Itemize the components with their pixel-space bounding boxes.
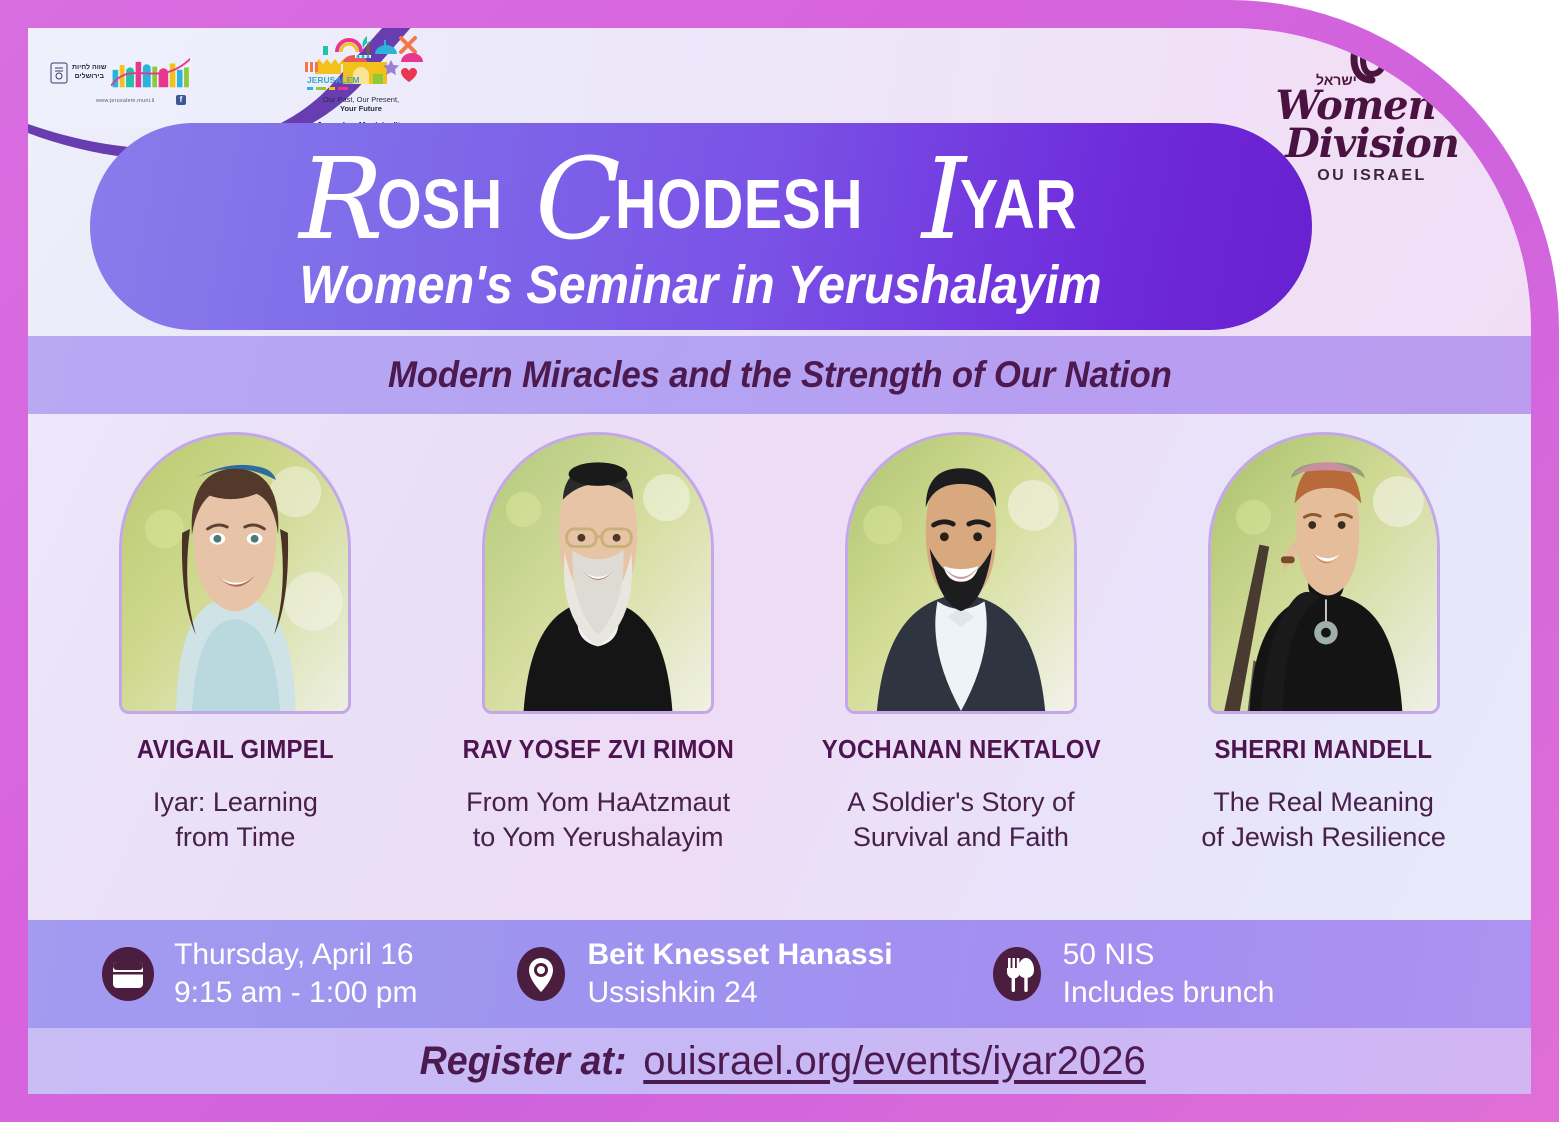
info-location-line1: Beit Knesset Hanassi [587,936,892,974]
info-price-text: 50 NIS Includes brunch [1063,936,1275,1013]
inner-content-area: שווה לחיות בירושלים www.jerusalem. [28,28,1531,1094]
info-location-line2: Ussishkin 24 [587,974,892,1012]
ou-script-division: Division [1257,125,1487,163]
speaker-topic-line: from Time [54,820,417,855]
register-band: Register at:ouisrael.org/events/iyar2026 [28,1028,1531,1094]
speaker-card: RAV YOSEF ZVI RIMON From Yom HaAtzmaut t… [417,432,780,920]
speaker-photo [1208,432,1440,714]
speaker-card: SHERRI MANDELL The Real Meaning of Jewis… [1142,432,1505,920]
jm-hebrew-text: שווה לחיות בירושלים [72,64,107,82]
info-price-line2: Includes brunch [1063,974,1275,1012]
info-date-line1: Thursday, April 16 [174,936,417,974]
speaker-topic-line: Iyar: Learning [54,785,417,820]
speaker-card: AVIGAIL GIMPEL Iyar: Learning from Time [54,432,417,920]
info-bar: Thursday, April 16 9:15 am - 1:00 pm Bei… [28,920,1531,1028]
jerusalem-illustration-icon: JERUSALEM [297,32,425,94]
map-pin-icon [513,946,569,1002]
speaker-card: YOCHANAN NEKTALOV A Soldier's Story of S… [780,432,1143,920]
speaker-topic-line: The Real Meaning [1142,785,1505,820]
info-location-text: Beit Knesset Hanassi Ussishkin 24 [587,936,892,1013]
info-location: Beit Knesset Hanassi Ussishkin 24 [513,936,892,1013]
speaker-topic: The Real Meaning of Jewish Resilience [1142,785,1505,854]
speakers-section: AVIGAIL GIMPEL Iyar: Learning from Time [28,414,1531,920]
fork-spoon-icon [989,946,1045,1002]
speaker-name: SHERRI MANDELL [1157,734,1491,765]
portrait-yochanan-nektalov [848,435,1074,711]
speaker-topic: From Yom HaAtzmaut to Yom Yerushalayim [417,785,780,854]
title-word-hodesh: HODESH [615,169,863,239]
svg-text:JERUSALEM: JERUSALEM [307,75,359,85]
facebook-icon[interactable]: f [176,95,186,105]
header-zone: שווה לחיות בירושלים www.jerusalem. [28,28,1531,128]
jm-url[interactable]: www.jerusalem.muni.il [96,98,155,104]
portrait-sherri-mandell [1211,435,1437,711]
speaker-topic: Iyar: Learning from Time [54,785,417,854]
portrait-rav-yosef-zvi-rimon [485,435,711,711]
speaker-topic: A Soldier's Story of Survival and Faith [780,785,1143,854]
title-word-yar: YAR [960,169,1077,239]
portrait-avigail-gimpel [122,435,348,711]
speaker-photo [482,432,714,714]
title-word-osh: OSH [377,169,503,239]
speaker-topic-line: Survival and Faith [780,820,1143,855]
speaker-topic-line: A Soldier's Story of [780,785,1143,820]
info-date-text: Thursday, April 16 9:15 am - 1:00 pm [174,936,417,1013]
register-line: Register at:ouisrael.org/events/iyar2026 [413,1039,1146,1084]
info-date: Thursday, April 16 9:15 am - 1:00 pm [100,936,417,1013]
theme-band: Modern Miracles and the Strength of Our … [28,336,1531,414]
info-price: 50 NIS Includes brunch [989,936,1275,1013]
event-subtitle: Women's Seminar in Yerushalayim [300,254,1102,316]
register-label: Register at: [420,1039,627,1084]
speaker-name: RAV YOSEF ZVI RIMON [431,734,765,765]
speaker-topic-line: of Jewish Resilience [1142,820,1505,855]
flyer-root: שווה לחיות בירושלים www.jerusalem. [0,0,1559,1122]
jerusalem-tagline-1: Our Past, Our Present, [286,95,436,104]
info-price-line1: 50 NIS [1063,936,1275,974]
title-banner: ROSH CHODESH IYAR Women's Seminar in Yer… [90,123,1312,330]
calendar-icon [100,946,156,1002]
event-title: ROSH CHODESH IYAR [299,144,1103,256]
jerusalem-tagline-2: Your Future [286,104,436,113]
speaker-name: AVIGAIL GIMPEL [69,734,403,765]
speaker-topic-line: From Yom HaAtzmaut [417,785,780,820]
title-cap-c: C [535,135,621,265]
speaker-photo [845,432,1077,714]
ou-hebrew-text: ישראל [1316,72,1357,88]
jerusalem-municipality-logo: שווה לחיות בירושלים www.jerusalem. [50,38,190,108]
speaker-photo [119,432,351,714]
theme-text: Modern Miracles and the Strength of Our … [388,354,1172,396]
jerusalem-crest-icon [50,62,68,84]
speaker-name: YOCHANAN NEKTALOV [794,734,1128,765]
title-cap-r: R [299,135,383,265]
register-url[interactable]: ouisrael.org/events/iyar2026 [643,1039,1146,1083]
info-date-line2: 9:15 am - 1:00 pm [174,974,417,1012]
speaker-topic-line: to Yom Yerushalayim [417,820,780,855]
jerusalem-skyline-icon [111,49,190,97]
